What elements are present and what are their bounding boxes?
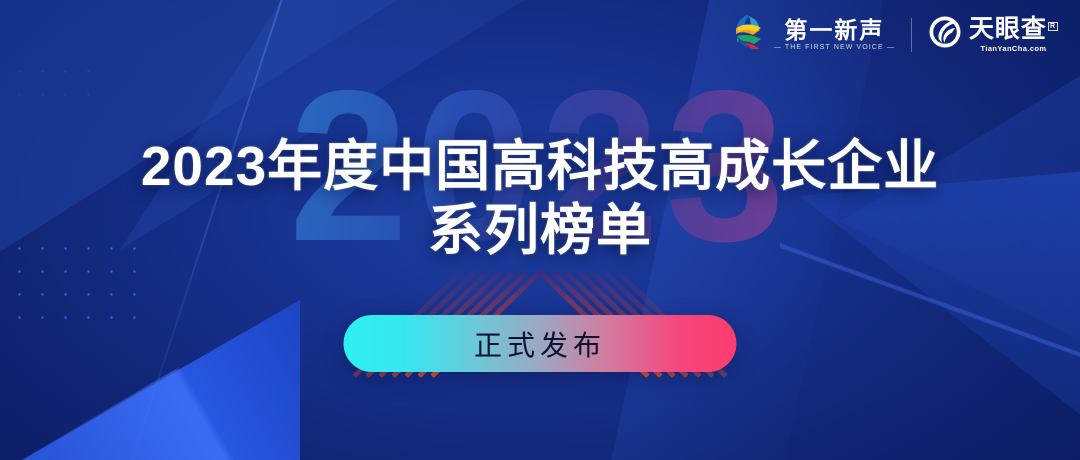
logo-divider: [911, 18, 912, 52]
swirl-ribbon-icon: [733, 14, 767, 55]
logo-tianyancha-tagline: TianYanCha.com: [981, 44, 1047, 53]
triangle-bottom-left: [0, 300, 300, 460]
promo-banner: 2023 2023年度中国高科技高成长企业 系列榜单 正式发布: [0, 0, 1080, 460]
logo-diyixinsheng-text: 第一新声 — THE FIRST NEW VOICE —: [774, 18, 895, 51]
logo-diyixinsheng[interactable]: 第一新声 — THE FIRST NEW VOICE —: [733, 14, 895, 55]
page-title: 2023年度中国高科技高成长企业 系列榜单: [0, 135, 1080, 263]
logo-diyixinsheng-cn: 第一新声: [784, 18, 884, 42]
eye-aperture-icon: [928, 15, 962, 54]
title-line-1: 2023年度中国高科技高成长企业: [0, 135, 1080, 199]
logo-tianyancha[interactable]: 天眼查R TianYanCha.com: [928, 15, 1058, 54]
logo-diyixinsheng-tagline: — THE FIRST NEW VOICE —: [774, 44, 895, 51]
logo-tianyancha-cn: 天眼查R: [969, 16, 1058, 42]
release-cta-button[interactable]: 正式发布: [344, 315, 737, 372]
logo-group: 第一新声 — THE FIRST NEW VOICE — 天眼查R TianYa…: [733, 14, 1058, 55]
title-line-2: 系列榜单: [0, 199, 1080, 263]
triangle-bottom-left-edge: [0, 290, 310, 460]
registered-trademark-icon: R: [1048, 22, 1058, 31]
release-cta-label: 正式发布: [474, 324, 606, 364]
logo-tianyancha-cn-label: 天眼查: [969, 15, 1047, 43]
logo-tianyancha-text: 天眼查R TianYanCha.com: [969, 16, 1058, 53]
